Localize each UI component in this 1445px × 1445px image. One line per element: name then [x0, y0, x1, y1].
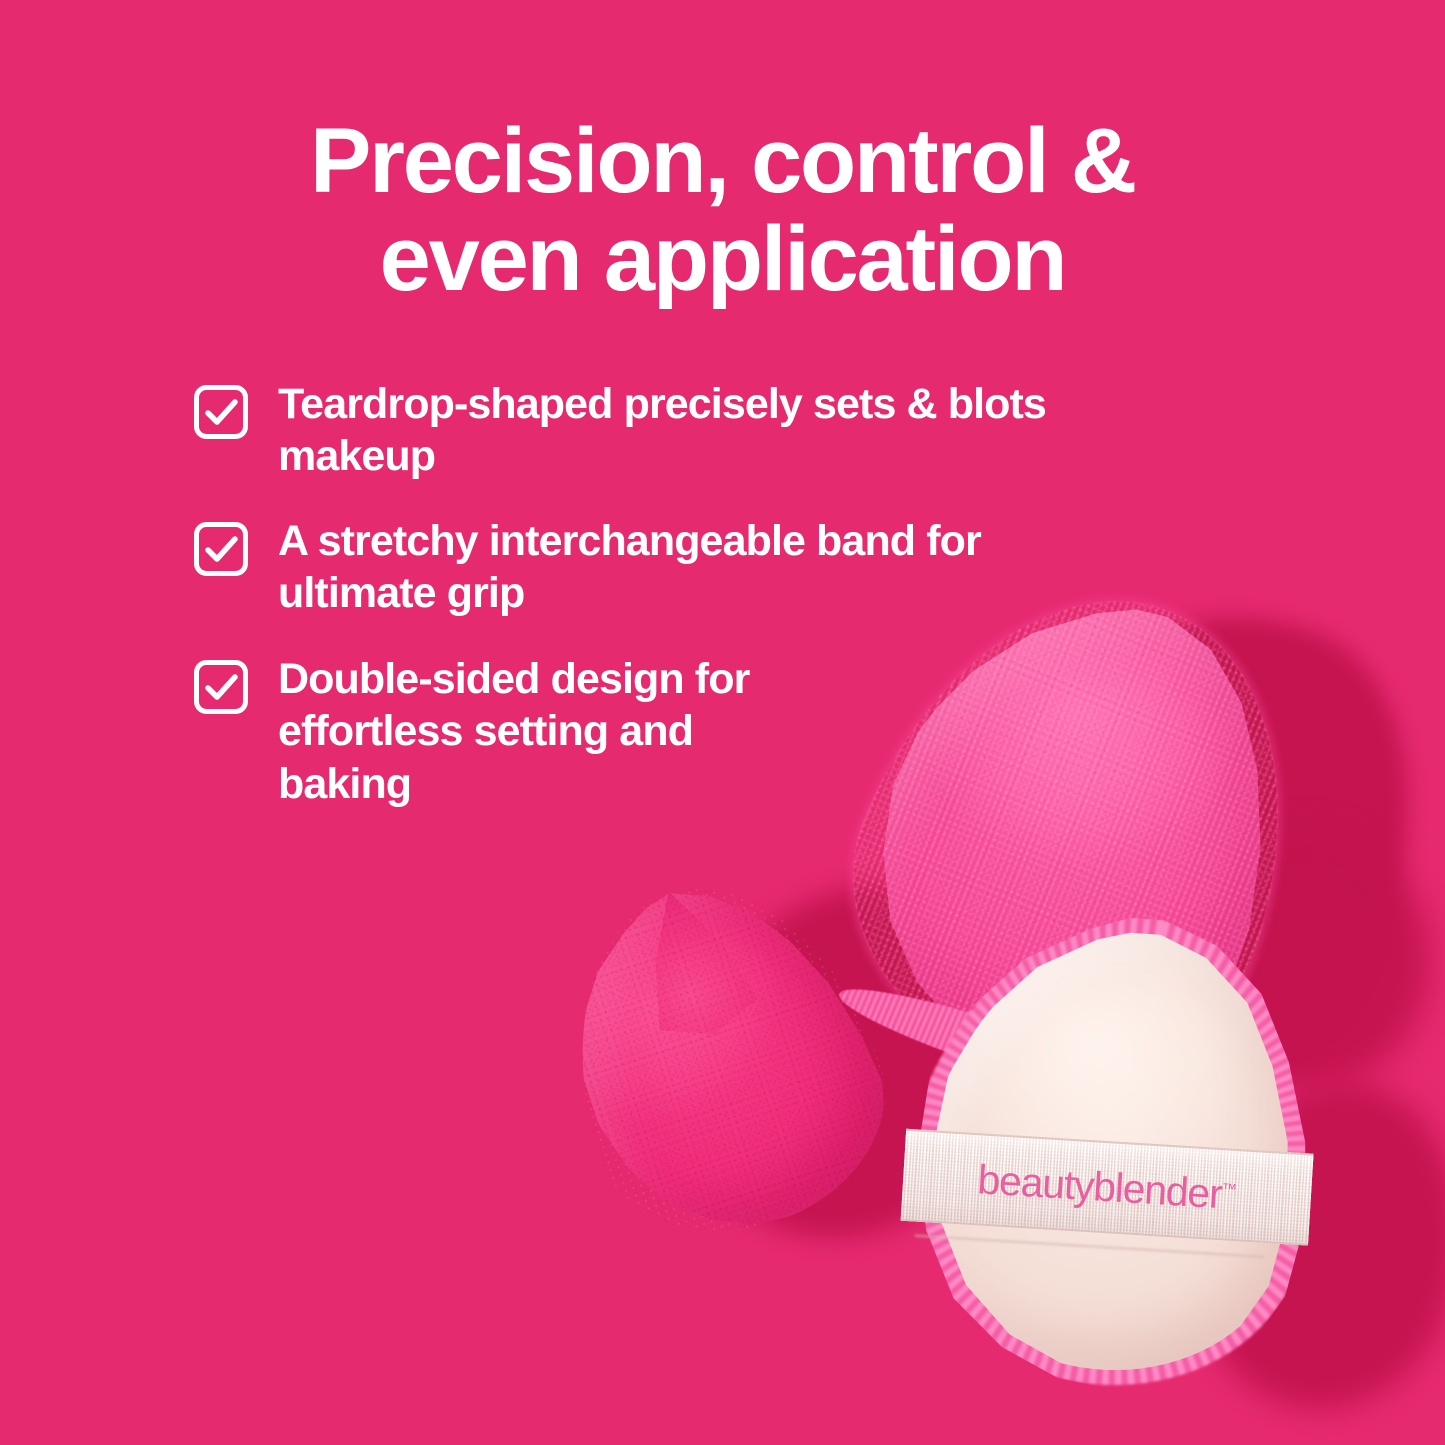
brand-elastic-band: beautyblender™ [901, 1129, 1314, 1246]
headline-line-2: even application [150, 210, 1295, 308]
feature-text: A stretchy interchangeable band for ulti… [278, 515, 1068, 620]
checkbox-checked-icon [193, 384, 249, 440]
cream-powder-puff: beautyblender™ [883, 895, 1346, 1404]
brand-name: beautyblender [976, 1156, 1223, 1217]
trademark-symbol: ™ [1221, 1180, 1237, 1198]
sponge-body [529, 848, 916, 1267]
sponge-shadow [642, 841, 1048, 1279]
sponge-tip [611, 873, 773, 1053]
cream-puff-seam [915, 1234, 1265, 1258]
marketing-image: Precision, control & even application Te… [0, 0, 1445, 1445]
cream-puff-shadow [1169, 1057, 1445, 1434]
checkbox-checked-icon [193, 521, 249, 577]
brand-logo-text: beautyblender™ [976, 1156, 1238, 1219]
velour-puff-shadow-2 [1180, 830, 1430, 1090]
page-title: Precision, control & even application [0, 112, 1445, 309]
feature-text: Double-sided design for effortless setti… [278, 653, 798, 810]
checkbox-checked-icon [193, 659, 249, 715]
cream-puff-body [883, 895, 1346, 1404]
cream-puff-ruffle-trim [866, 878, 1365, 1423]
list-item: Teardrop-shaped precisely sets & blots m… [193, 378, 1203, 483]
velour-ruffle-trim [832, 972, 1160, 1118]
headline-line-1: Precision, control & [150, 112, 1295, 210]
feature-text: Teardrop-shaped precisely sets & blots m… [278, 378, 1203, 483]
sponge-pore-texture [529, 848, 916, 1267]
pink-teardrop-sponge [529, 848, 916, 1267]
list-item: A stretchy interchangeable band for ulti… [193, 515, 1203, 620]
feature-list: Teardrop-shaped precisely sets & blots m… [193, 378, 1203, 842]
list-item: Double-sided design for effortless setti… [193, 653, 1203, 810]
